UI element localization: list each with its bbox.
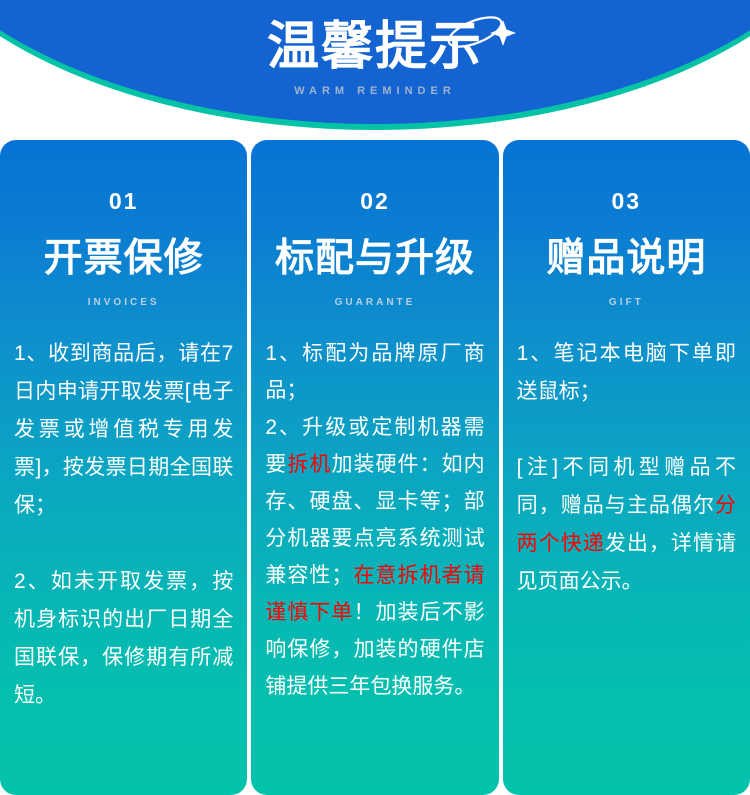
page-title: 温馨提示 [267, 18, 483, 76]
paragraph-spacer [517, 411, 736, 449]
reminder-card-invoices[interactable]: 01 开票保修 INVOICES 1、收到商品后，请在7日内申请开取发票[电子发… [0, 140, 247, 795]
card-body: 1、笔记本电脑下单即送鼠标；[注]不同机型赠品不同，赠品与主品偶尔分两个快递发出… [517, 335, 736, 601]
card-body: 1、标配为品牌原厂商品；2、升级或定制机器需要拆机加装硬件：如内存、硬盘、显卡等… [265, 335, 484, 705]
body-text: 1、收到商品后，请在7日内申请开取发票[电子发票或增值税专用发票]，按发票日期全… [14, 342, 233, 517]
body-text: 1、笔记本电脑下单即送鼠标； [517, 342, 736, 403]
card-number: 02 [265, 188, 484, 214]
card-subtitle: INVOICES [14, 296, 233, 309]
card-paragraph: [注]不同机型赠品不同，赠品与主品偶尔分两个快递发出，详情请见页面公示。 [517, 449, 736, 601]
card-paragraph: 1、笔记本电脑下单即送鼠标； [517, 335, 736, 411]
card-subtitle: GIFT [517, 296, 736, 309]
title-row: 温馨提示 [267, 18, 483, 76]
paragraph-spacer [14, 525, 233, 563]
card-number: 03 [517, 188, 736, 214]
body-text: 1、标配为品牌原厂商品； [265, 342, 484, 402]
card-paragraph: 2、如未开取发票，按机身标识的出厂日期全国联保，保修期有所减短。 [14, 563, 233, 715]
card-subtitle: GUARANTE [265, 296, 484, 309]
reminder-card-list: 01 开票保修 INVOICES 1、收到商品后，请在7日内申请开取发票[电子发… [0, 140, 750, 795]
page-subtitle: WARM REMINDER [294, 85, 456, 97]
warm-reminder-page: 温馨提示 WARM REMINDER 01 开票保修 INVOICES 1、收到… [0, 0, 750, 795]
body-text: 2、如未开取发票，按机身标识的出厂日期全国联保，保修期有所减短。 [14, 570, 233, 707]
reminder-card-guarantee[interactable]: 02 标配与升级 GUARANTE 1、标配为品牌原厂商品；2、升级或定制机器需… [251, 140, 498, 795]
page-header: 温馨提示 WARM REMINDER [0, 0, 750, 135]
card-paragraph: 1、标配为品牌原厂商品； [265, 335, 484, 409]
card-body: 1、收到商品后，请在7日内申请开取发票[电子发票或增值税专用发票]，按发票日期全… [14, 335, 233, 715]
highlight-text: 拆机 [287, 453, 331, 476]
reminder-card-gift[interactable]: 03 赠品说明 GIFT 1、笔记本电脑下单即送鼠标；[注]不同机型赠品不同，赠… [503, 140, 750, 795]
header-content: 温馨提示 WARM REMINDER [0, 0, 750, 135]
card-paragraph: 2、升级或定制机器需要拆机加装硬件：如内存、硬盘、显卡等；部分机器要点亮系统测试… [265, 409, 484, 705]
card-paragraph: 1、收到商品后，请在7日内申请开取发票[电子发票或增值税专用发票]，按发票日期全… [14, 335, 233, 525]
card-title: 赠品说明 [517, 236, 736, 282]
body-text: [注]不同机型赠品不同，赠品与主品偶尔 [517, 456, 736, 517]
card-title: 标配与升级 [265, 236, 484, 282]
card-title: 开票保修 [14, 236, 233, 282]
card-number: 01 [14, 188, 233, 214]
